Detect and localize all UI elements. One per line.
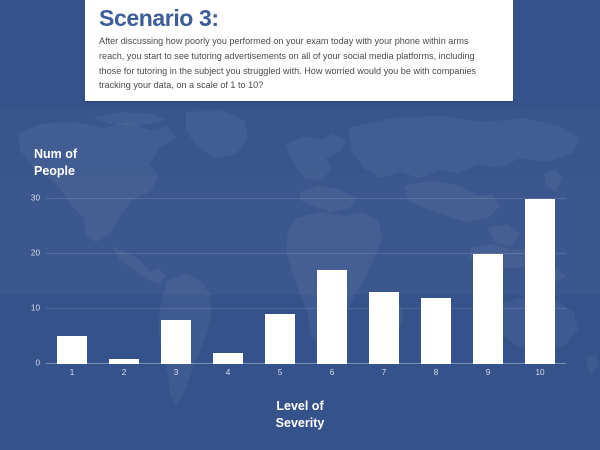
bar (161, 320, 191, 364)
x-axis-tick-label: 2 (98, 368, 150, 377)
bar-series: 12345678910 (46, 190, 566, 364)
y-axis-tick-label: 20 (31, 248, 40, 257)
x-axis-tick-label: 6 (306, 368, 358, 377)
y-axis-tick-label: 10 (31, 303, 40, 312)
y-axis-tick-label: 30 (31, 193, 40, 202)
scenario-card: Scenario 3: After discussing how poorly … (85, 0, 513, 101)
y-axis-title: Num of People (34, 146, 77, 179)
x-axis-tick-label: 3 (150, 368, 202, 377)
x-axis-tick-label: 7 (358, 368, 410, 377)
bar-group: 10 (514, 190, 566, 364)
bar (265, 314, 295, 364)
bar-chart: Num of People 0102030 12345678910 Level … (0, 108, 600, 450)
bar-group: 6 (306, 190, 358, 364)
bar-group: 3 (150, 190, 202, 364)
x-axis-tick-label: 5 (254, 368, 306, 377)
bar (473, 254, 503, 364)
bar-group: 4 (202, 190, 254, 364)
page-title: Scenario 3: (99, 6, 499, 30)
bar (525, 199, 555, 364)
scenario-description: After discussing how poorly you performe… (99, 34, 499, 93)
bar-group: 9 (462, 190, 514, 364)
x-axis-tick-label: 4 (202, 368, 254, 377)
plot-area: 0102030 12345678910 (46, 190, 566, 364)
slide-root: Scenario 3: After discussing how poorly … (0, 0, 600, 450)
bar-group: 5 (254, 190, 306, 364)
bar (317, 270, 347, 364)
y-axis-tick-label: 0 (35, 359, 40, 368)
bar (421, 298, 451, 364)
bar-group: 7 (358, 190, 410, 364)
bar (369, 292, 399, 364)
x-axis-tick-label: 8 (410, 368, 462, 377)
bar-group: 1 (46, 190, 98, 364)
x-axis-tick-label: 10 (514, 368, 566, 377)
bar (57, 336, 87, 364)
bar (213, 353, 243, 364)
bar-group: 8 (410, 190, 462, 364)
x-axis-tick-label: 1 (46, 368, 98, 377)
bar (109, 359, 139, 365)
x-axis-tick-label: 9 (462, 368, 514, 377)
x-axis-title: Level of Severity (0, 398, 600, 431)
bar-group: 2 (98, 190, 150, 364)
